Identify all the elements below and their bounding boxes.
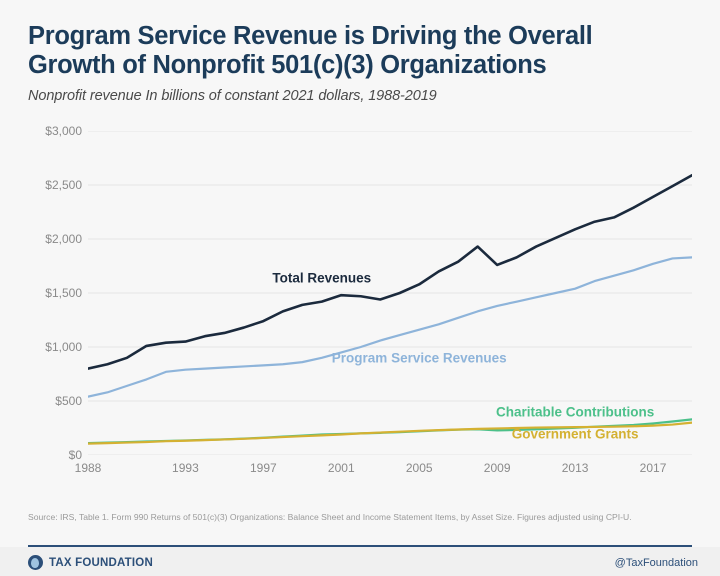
series-label-charitable-contributions: Charitable Contributions	[496, 404, 654, 419]
x-tick-label: 2005	[406, 461, 433, 475]
y-axis-labels: $0$500$1,000$1,500$2,000$2,500$3,000	[10, 131, 82, 455]
x-tick-label: 2001	[328, 461, 355, 475]
page-title: Program Service Revenue is Driving the O…	[28, 22, 668, 80]
brand-logo[interactable]: TAX FOUNDATION	[28, 555, 153, 570]
x-tick-label: 1988	[75, 461, 102, 475]
x-tick-label: 2017	[640, 461, 667, 475]
y-tick-label: $1,000	[45, 340, 82, 354]
x-tick-label: 2009	[484, 461, 511, 475]
social-handle: @TaxFoundation	[615, 557, 698, 569]
y-tick-label: $2,000	[45, 232, 82, 246]
series-label-program-service-revenues: Program Service Revenues	[332, 350, 507, 365]
y-tick-label: $0	[69, 448, 82, 462]
x-axis-labels: 19881993199720012005200920132017	[88, 461, 692, 481]
title-line-2: Growth of Nonprofit 501(c)(3) Organizati…	[28, 51, 668, 80]
brand-logo-label: TAX FOUNDATION	[49, 557, 153, 569]
series-label-total-revenues: Total Revenues	[272, 270, 371, 285]
tax-foundation-logo-icon	[28, 555, 43, 570]
source-note: Source: IRS, Table 1. Form 990 Returns o…	[28, 512, 678, 523]
x-tick-label: 2013	[562, 461, 589, 475]
title-line-1: Program Service Revenue is Driving the O…	[28, 22, 592, 50]
chart-subtitle: Nonprofit revenue In billions of constan…	[28, 88, 668, 104]
y-tick-label: $3,000	[45, 124, 82, 138]
series-label-government-grants: Government Grants	[512, 427, 639, 442]
y-tick-label: $2,500	[45, 178, 82, 192]
y-tick-label: $500	[55, 394, 82, 408]
chart-card: Program Service Revenue is Driving the O…	[0, 0, 720, 576]
y-tick-label: $1,500	[45, 286, 82, 300]
x-tick-label: 1997	[250, 461, 277, 475]
x-tick-label: 1993	[172, 461, 199, 475]
